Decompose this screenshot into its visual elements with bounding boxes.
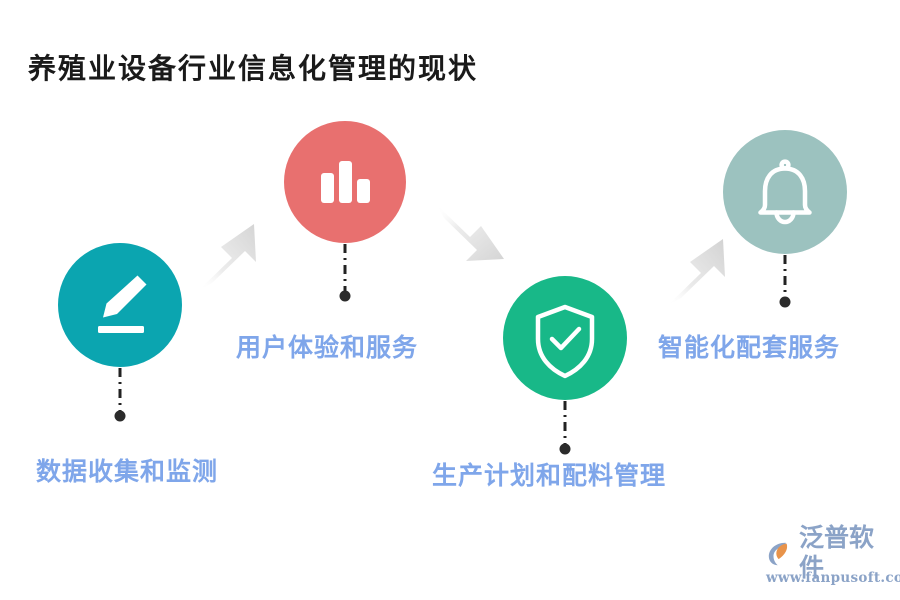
step-label-2: 用户体验和服务 [236, 328, 418, 364]
fanpu-logo-icon [766, 538, 796, 568]
connector-step4 [780, 255, 791, 308]
step-circle-3[interactable] [503, 276, 627, 400]
watermark-url: www.fanpusoft.com [766, 570, 894, 586]
watermark-logo: 泛普软件 www.fanpusoft.com [766, 535, 894, 593]
arrow-step1-to-step2 [199, 224, 256, 290]
step-node-1[interactable] [58, 243, 182, 367]
connector-step1 [115, 368, 126, 422]
infographic-canvas: 养殖业设备行业信息化管理的现状 [0, 0, 900, 600]
connector-step3 [560, 401, 571, 455]
step-label-4: 智能化配套服务 [658, 328, 840, 364]
step-circle-4[interactable] [723, 130, 847, 254]
step-node-3[interactable] [503, 276, 627, 400]
arrow-step2-to-step3 [437, 205, 504, 261]
step-label-3: 生产计划和配料管理 [432, 456, 666, 492]
diagram-artwork [0, 0, 900, 600]
step-node-4[interactable] [723, 130, 847, 254]
arrow-step3-to-step4 [668, 239, 725, 305]
step-label-1: 数据收集和监测 [36, 452, 218, 488]
connector-step2 [340, 244, 351, 302]
step-node-2[interactable] [284, 121, 406, 243]
